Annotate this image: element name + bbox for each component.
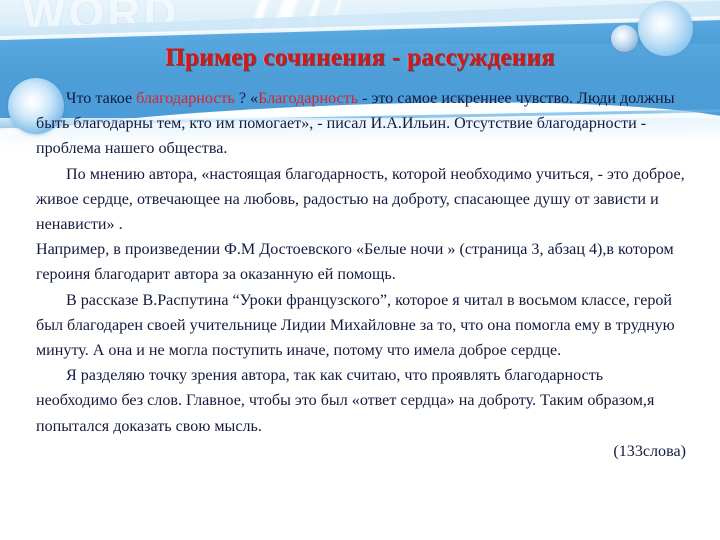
watermark-text: WORD	[22, 0, 180, 40]
slide-canvas: WORD ДОКУМЕНТ Пример сочинения - рассужд…	[0, 0, 720, 540]
p1-highlight-1: благодарность	[136, 90, 235, 107]
paragraph-4: В рассказе В.Распутина “Уроки французско…	[36, 288, 686, 364]
paragraph-5: Я разделяю точку зрения автора, так как …	[36, 363, 686, 439]
p1-mid: ? «	[235, 90, 258, 107]
paragraph-2: По мнению автора, «настоящая благодарнос…	[36, 162, 686, 238]
paragraph-1: Что такое благодарность ? «Благодарность…	[36, 86, 686, 162]
essay-body: Что такое благодарность ? «Благодарность…	[36, 86, 686, 439]
p1-highlight-2: Благодарность	[258, 90, 358, 107]
page-title: Пример сочинения - рассуждения	[0, 44, 720, 72]
word-count: (133слова)	[36, 443, 686, 461]
p1-pre: Что такое	[66, 90, 136, 107]
paragraph-3: Например, в произведении Ф.М Достоевског…	[36, 237, 686, 287]
